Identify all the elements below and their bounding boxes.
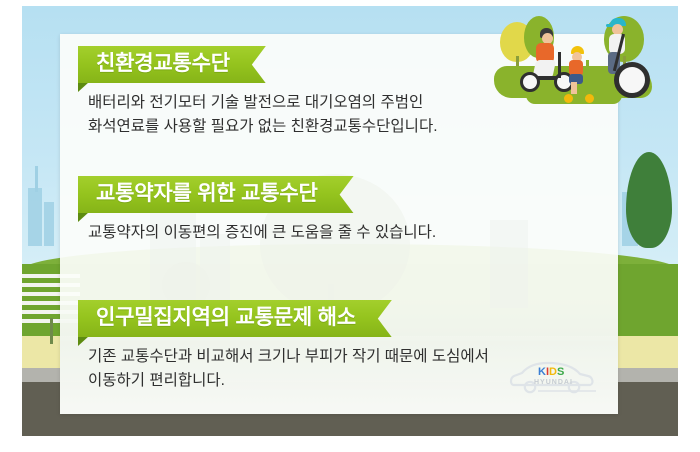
figure-rider-on-segway [606,18,648,86]
section-1-ribbon: 친환경교통수단 [78,46,266,83]
skyline-tower-spire [35,166,38,192]
logo-letter-s: S [557,366,564,378]
ribbon-fold-icon [78,82,89,92]
scooter-wheel-rear [520,72,540,92]
section-2-body: 교통약자의 이동편의 증진에 큰 도움을 줄 수 있습니다. [88,221,598,245]
logo-letter-k: K [538,366,546,378]
kick-scooter-wheel-rear [564,94,573,103]
segway-wheel [614,62,650,98]
section-2: 교통약자를 위한 교통수단 교통약자의 이동편의 증진에 큰 도움을 줄 수 있… [60,176,618,245]
section-3-heading: 인구밀집지역의 교통문제 해소 [78,300,392,337]
ribbon-fold-icon [78,336,89,346]
slide-root: 친환경교통수단 배터리와 전기모터 기술 발전으로 대기오염의 주범인 화석연료… [0,0,700,452]
scooter-handlebar-stem [558,52,561,78]
section-3-ribbon: 인구밀집지역의 교통문제 해소 [78,300,392,337]
kick-scooter-wheel-front [585,94,594,103]
logo-kids-wordmark: KIDS [538,366,564,378]
slide-frame: 친환경교통수단 배터리와 전기모터 기술 발전으로 대기오염의 주범인 화석연료… [22,6,678,436]
logo-letter-d: D [549,366,557,378]
signpost-pole [50,318,53,344]
skyline-building-left-2 [44,202,54,246]
logo-hyundai-wordmark: HYUNDAI [534,379,573,386]
section-1-heading: 친환경교통수단 [78,46,266,83]
section-2-ribbon: 교통약자를 위한 교통수단 [78,176,354,213]
section-2-heading: 교통약자를 위한 교통수단 [78,176,354,213]
skyline-building-left-1 [28,188,42,246]
ribbon-fold-icon [78,212,89,222]
kids-hyundai-logo: KIDS HYUNDAI [508,354,600,400]
kick-scooter-stem [586,60,589,94]
family-mobility-illustration [486,10,662,106]
figure-child-on-kick-scooter [564,46,596,104]
